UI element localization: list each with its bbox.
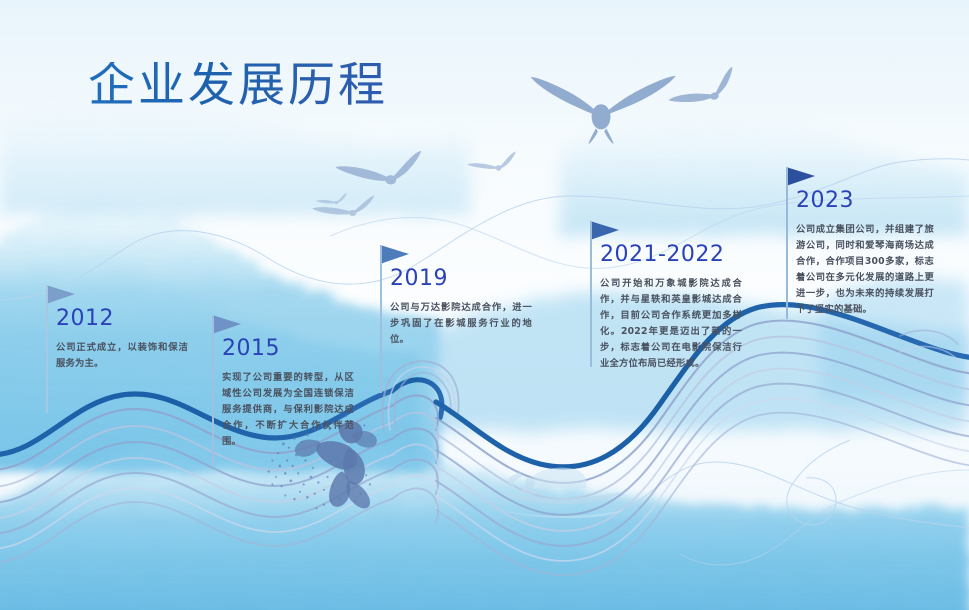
milestone-body-2019: 公司与万达影院达成合作，进一步巩固了在影城服务行业的地位。 — [390, 300, 532, 348]
milestone-body-2023: 公司成立集团公司，并组建了旅游公司，同时和爱琴海商场达成合作，合作项目300多家… — [796, 222, 934, 318]
milestone-body-2015: 实现了公司重要的转型，从区域性公司发展为全国连锁保洁服务提供商，与保利影院达成合… — [222, 370, 354, 450]
milestone-year-2023: 2023 — [796, 188, 934, 213]
infographic-canvas: 企业发展历程 2012 公司正式成立，以装饰和保洁服务为主。 2015 实现了公… — [0, 0, 969, 610]
milestone-year-2015: 2015 — [222, 336, 354, 361]
flag-pole-2023 — [786, 167, 788, 319]
milestone-body-2021-2022: 公司开始和万象城影院达成合作，并与星轶和英皇影城达成合作，目前公司合作系统更加多… — [600, 276, 742, 372]
flag-pole-2021-2022 — [590, 221, 592, 367]
milestone-text-2012: 2012 公司正式成立，以装饰和保洁服务为主。 — [56, 306, 188, 372]
flag-pole-2019 — [380, 245, 382, 393]
flag-pole-2012 — [46, 285, 48, 413]
milestone-year-2019: 2019 — [390, 266, 532, 291]
milestone-text-2019: 2019 公司与万达影院达成合作，进一步巩固了在影城服务行业的地位。 — [390, 266, 532, 348]
page-title-wrapper: 企业发展历程 — [88, 62, 388, 109]
milestone-year-2012: 2012 — [56, 306, 188, 331]
milestone-text-2021-2022: 2021-2022 公司开始和万象城影院达成合作，并与星轶和英皇影城达成合作，目… — [600, 242, 742, 372]
milestone-text-2023: 2023 公司成立集团公司，并组建了旅游公司，同时和爱琴海商场达成合作，合作项目… — [796, 188, 934, 318]
milestone-body-2012: 公司正式成立，以装饰和保洁服务为主。 — [56, 340, 188, 372]
page-title: 企业发展历程 — [88, 62, 388, 109]
flag-pole-2015 — [212, 315, 214, 465]
milestone-year-2021-2022: 2021-2022 — [600, 242, 742, 267]
milestone-text-2015: 2015 实现了公司重要的转型，从区域性公司发展为全国连锁保洁服务提供商，与保利… — [222, 336, 354, 450]
